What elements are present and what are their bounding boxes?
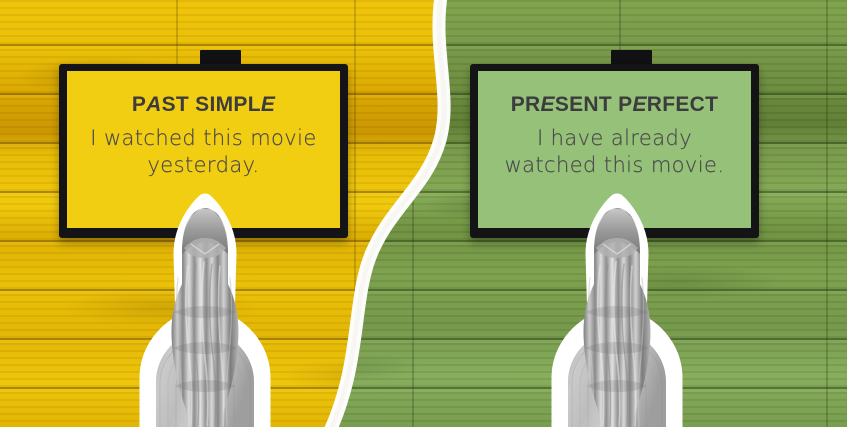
title-part-2: ST SIMPL [162,93,261,116]
tv-example-sentence-past-simple: I watched this movie yesterday. [77,125,330,179]
title-part-0: PR [511,93,541,116]
title-part-1: A [146,93,161,116]
title-part-1: E [541,93,555,116]
title-part-0: P [132,93,146,116]
figure-viewer-right [472,192,762,427]
title-part-3: E [261,93,275,116]
tv-title-past-simple: PAST SIMPLE [132,93,275,117]
tv-example-sentence-present-perfect: I have already watched this movie. [488,125,741,179]
title-part-4: RFECT [647,93,719,116]
figure-viewer-left [60,192,350,427]
tv-title-present-perfect: PRESENT PERFECT [511,93,719,117]
title-part-3: E [632,93,646,116]
woman-back-view-left-svg [60,192,350,427]
grammar-comparison-graphic: PAST SIMPLE I watched this movie yesterd… [0,0,847,427]
title-part-2: SENT P [555,93,633,116]
woman-back-view-right-svg [472,192,762,427]
